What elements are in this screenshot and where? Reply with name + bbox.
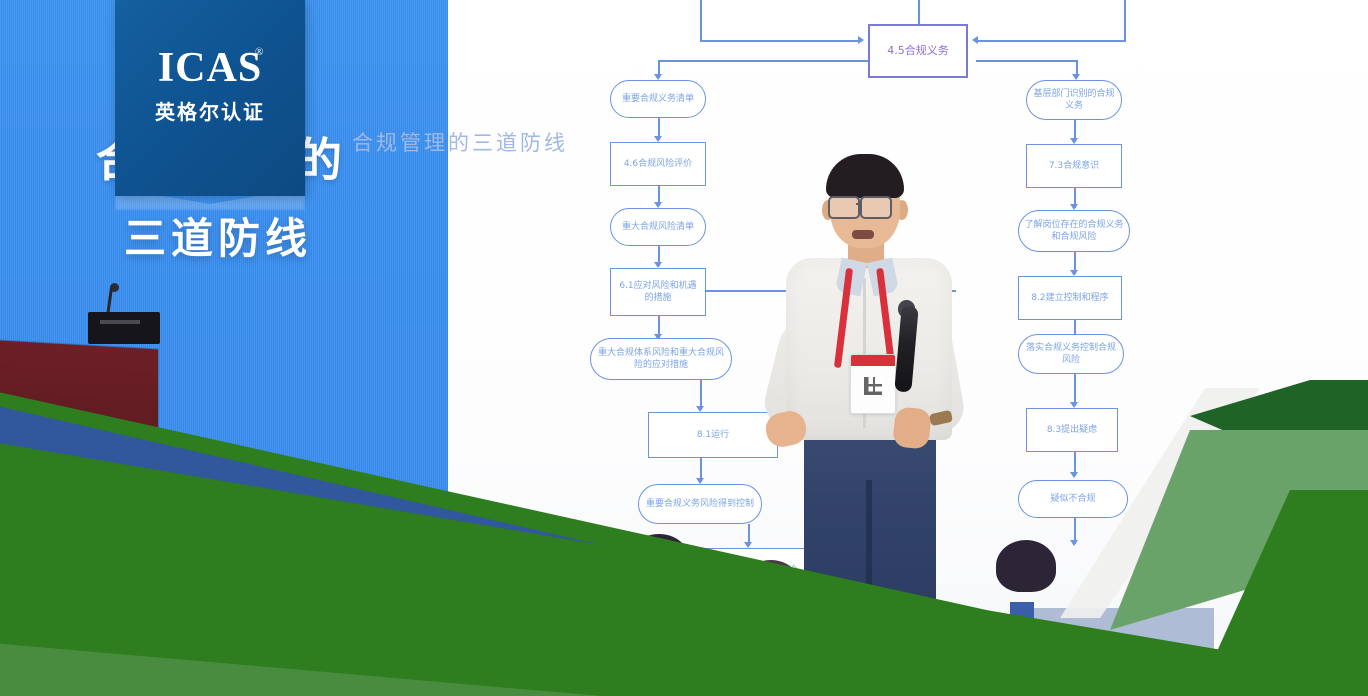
flow-node-right-3: 了解岗位存在的合规义务和合规风险 [1018, 210, 1130, 252]
flow-node-left-5: 重大合规体系风险和重大合规风险的应对措施 [590, 338, 732, 380]
podium-top-console [88, 312, 160, 344]
flow-node-left-6: 8.1运行 [648, 412, 778, 458]
eyeglasses-bridge [856, 203, 862, 205]
flow-arrow-icon [858, 36, 864, 44]
flow-node-right-2: 7.3合规意识 [1026, 144, 1122, 188]
eyeglasses-lens-right [860, 196, 892, 219]
flow-arrow-icon [1070, 472, 1078, 478]
icas-brand-banner: ICAS ® 英格尔认证 [115, 0, 305, 196]
flow-arrow-icon [1070, 540, 1078, 546]
flow-node-right-1: 基层部门识别的合规义务 [1026, 80, 1122, 120]
conference-badge [850, 354, 896, 414]
speaker-hair [826, 154, 904, 198]
icas-chinese-name: 英格尔认证 [115, 96, 305, 125]
speaker-mouth [852, 230, 874, 239]
podium-console-strip [100, 320, 140, 324]
flow-node-left-4: 6.1应对风险和机遇的措施 [610, 268, 706, 316]
registered-trademark-icon: ® [255, 46, 263, 58]
badge-header-strip [851, 355, 895, 366]
speaker-figure [770, 150, 1000, 620]
flow-node-right-6: 8.3提出疑虑 [1026, 408, 1118, 452]
speaker-right-hand [892, 406, 932, 450]
flow-connector [918, 0, 920, 24]
flow-node-left-2: 4.6合规风险评价 [610, 142, 706, 186]
flow-node-right-5: 落实合规义务控制合规风险 [1018, 334, 1124, 374]
flow-node-right-4: 8.2建立控制和程序 [1018, 276, 1122, 320]
flow-arrow-icon [972, 36, 978, 44]
flow-connector [700, 40, 860, 42]
flow-connector [976, 40, 1126, 42]
flow-node-left-1: 重要合规义务清单 [610, 80, 706, 118]
flow-connector [658, 60, 868, 62]
qr-code-icon [864, 377, 882, 395]
flow-node-hero: 4.5合规义务 [868, 24, 968, 78]
flow-node-left-7: 重要合规义务风险得到控制 [638, 484, 762, 524]
flow-connector [976, 60, 1078, 62]
flow-connector [1124, 0, 1126, 40]
flow-node-right-7: 疑似不合规 [1018, 480, 1128, 518]
led-subhead-text: 三道防线 [124, 205, 424, 261]
flow-connector [700, 0, 702, 40]
flow-node-left-3: 重大合规风险清单 [610, 208, 706, 246]
icas-logo-text: ICAS [115, 44, 305, 92]
screenshot-root: 合规管理的 三道防线 合规管理的三道防线 4.5合规义务 重要合规义务清单 4.… [0, 0, 1368, 696]
eyeglasses-lens-left [828, 196, 860, 219]
audience-head [996, 540, 1056, 592]
